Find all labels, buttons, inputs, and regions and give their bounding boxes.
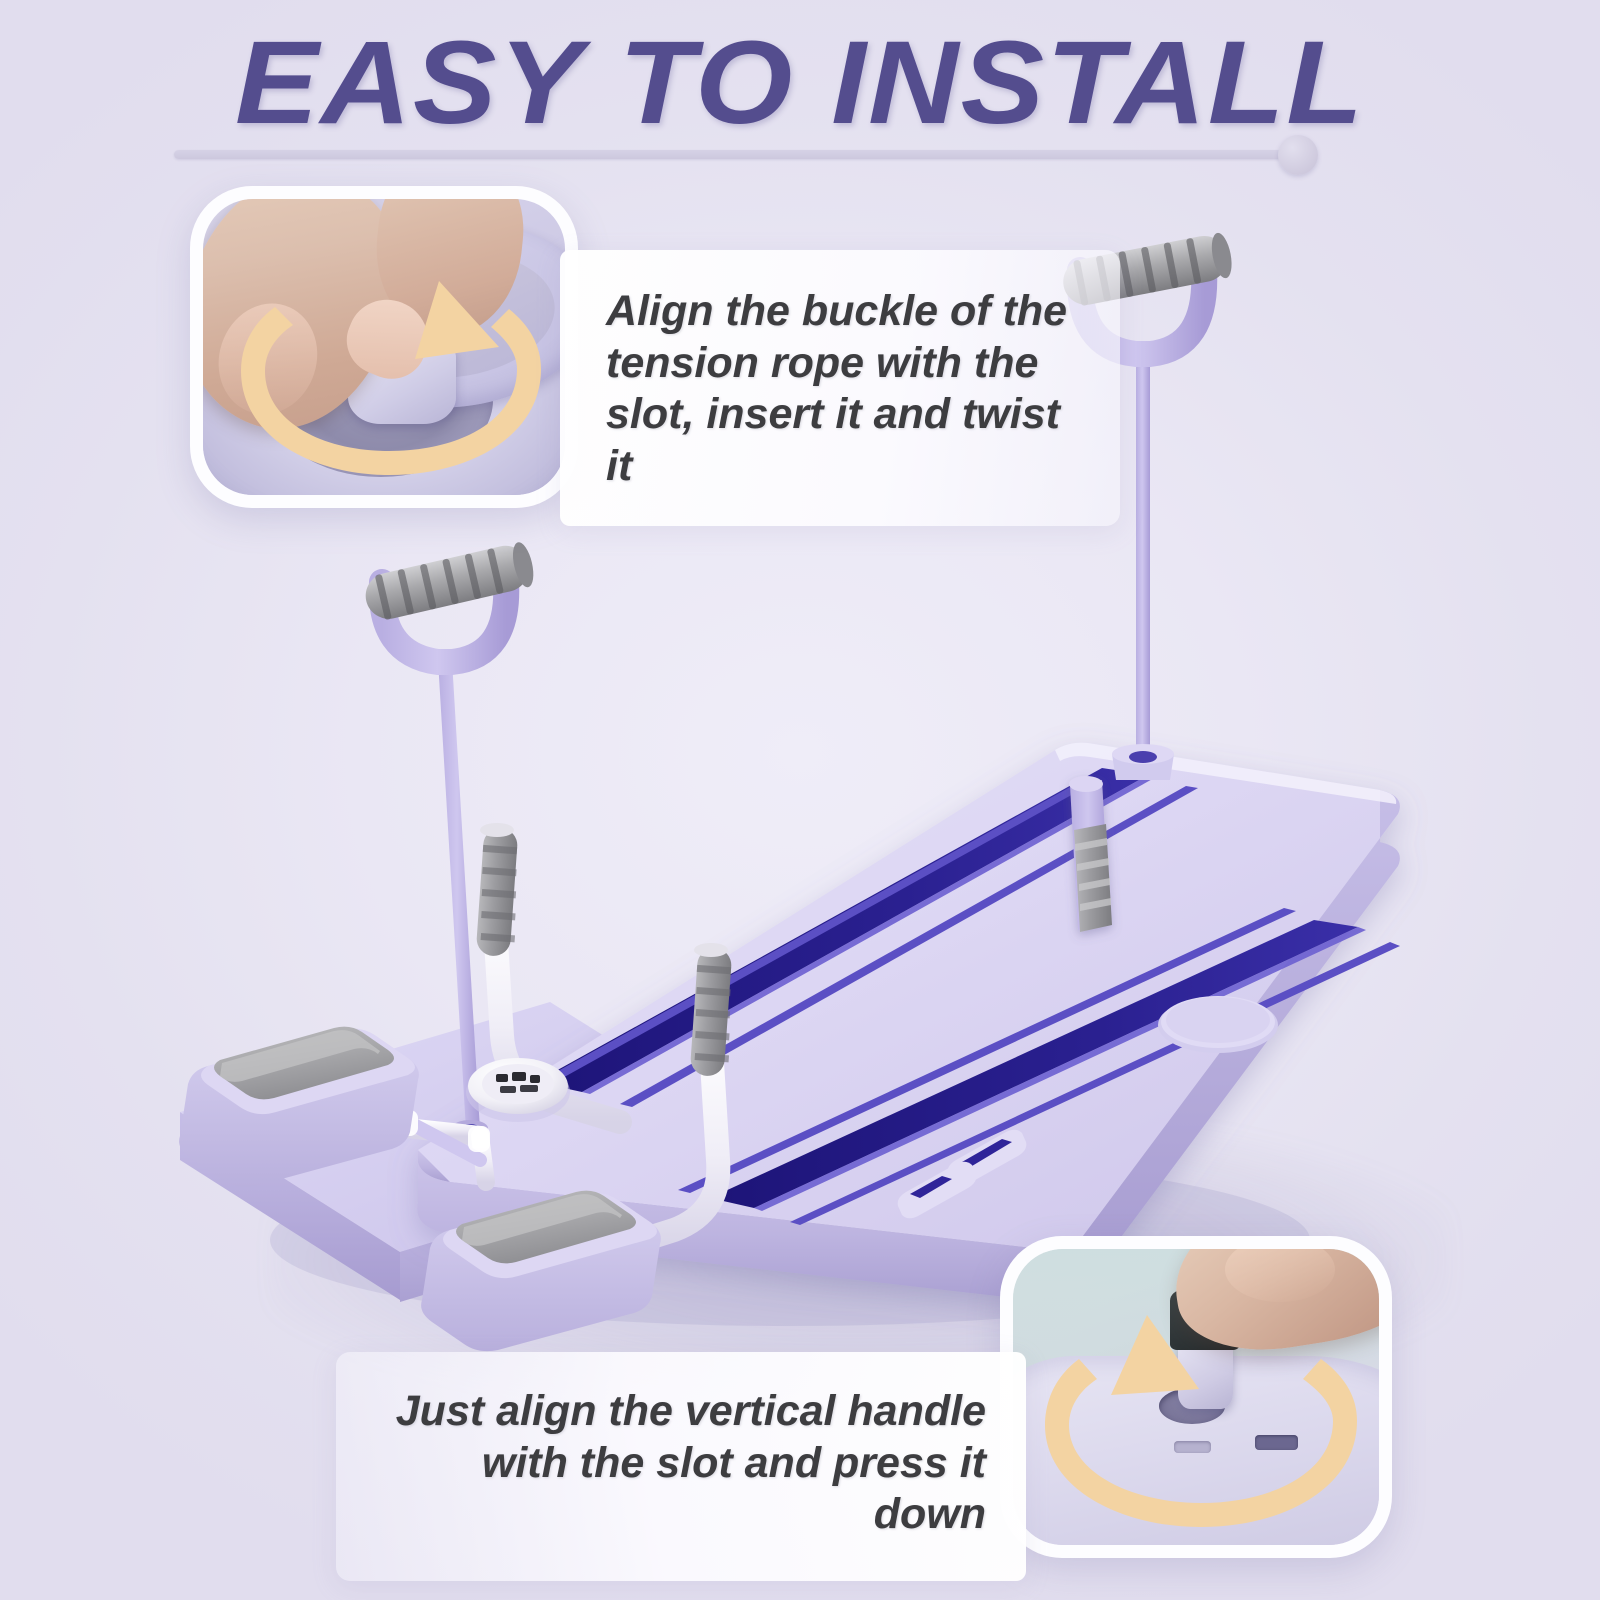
rotate-arrow-icon — [1013, 1249, 1379, 1545]
tube-grip-front — [690, 943, 733, 1077]
page-title: EASY TO INSTALL — [235, 24, 1365, 142]
rotate-arrow-icon — [203, 199, 565, 495]
buckle-recess — [1158, 996, 1278, 1053]
infographic-canvas: EASY TO INSTALL — [0, 0, 1600, 1600]
post-grip-mid — [1074, 824, 1112, 932]
inset-photo-buckle-twist — [190, 186, 578, 508]
caption-top: Align the buckle of the tension rope wit… — [560, 250, 1120, 526]
inset-photo-handle-press-image — [1013, 1249, 1379, 1545]
inset-photo-handle-press — [1000, 1236, 1392, 1558]
caption-bottom: Just align the vertical handle with the … — [336, 1352, 1026, 1581]
inset-photo-buckle-twist-image — [203, 199, 565, 495]
page-title-container: EASY TO INSTALL — [0, 24, 1600, 142]
title-divider-dot — [1278, 135, 1318, 175]
tube-grip-back — [476, 823, 519, 957]
center-button-emblem — [466, 1058, 570, 1122]
title-divider-line — [174, 150, 1314, 159]
